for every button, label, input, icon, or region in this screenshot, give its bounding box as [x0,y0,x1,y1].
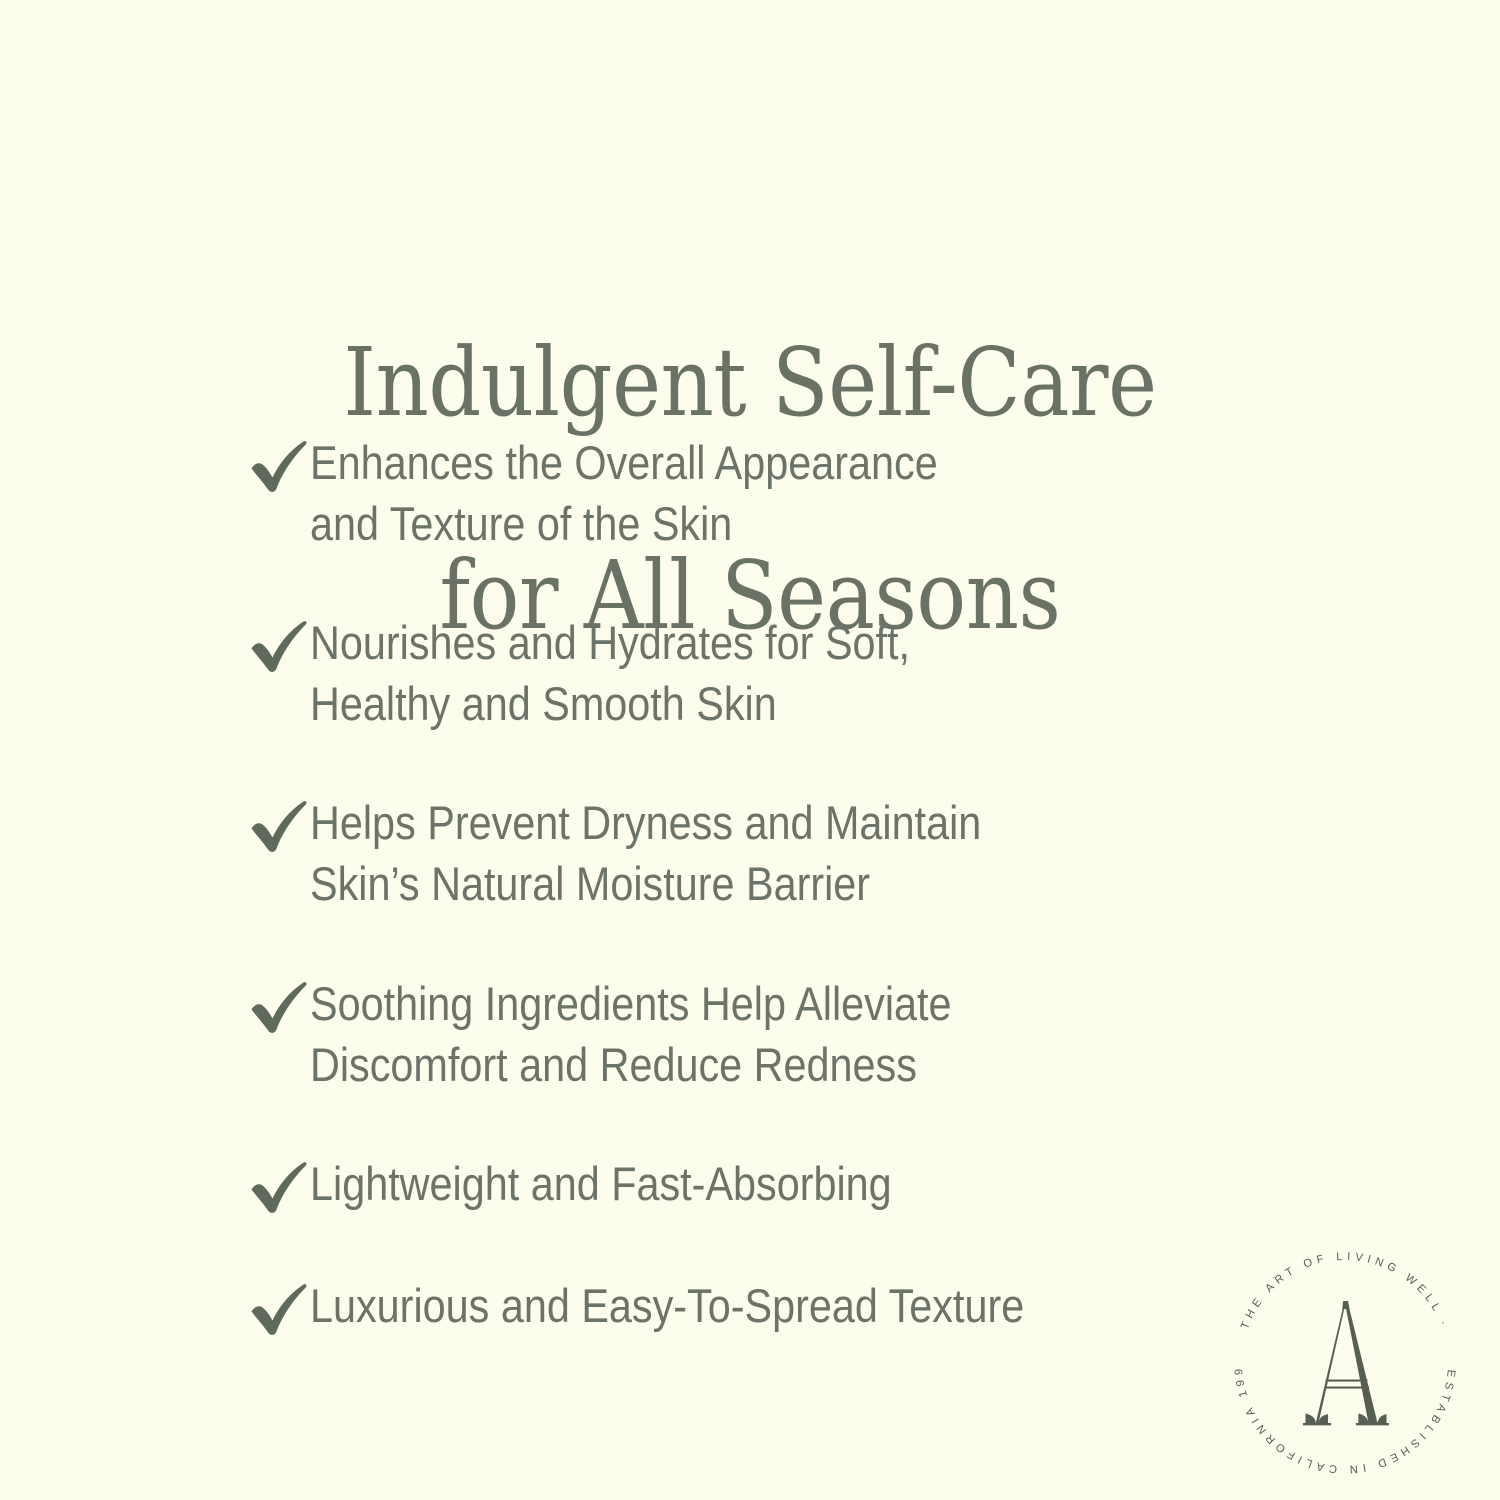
brand-seal-logo: THE ART OF LIVING WELL · · ESTABLISHED I… [1225,1243,1465,1483]
monogram-letter-a [1303,1301,1389,1425]
list-item: Luxurious and Easy-To-Spread Texture [248,1275,1228,1339]
benefit-text: Soothing Ingredients Help Alleviate Disc… [310,973,1118,1095]
benefits-list: Enhances the Overall Appearance and Text… [248,432,1228,1339]
checkmark-icon [248,1281,310,1339]
benefit-text: Enhances the Overall Appearance and Text… [310,432,1118,554]
checkmark-icon [248,1159,310,1217]
seal-arc-text-top: THE ART OF LIVING WELL · [1239,1251,1451,1331]
brand-seal-svg: THE ART OF LIVING WELL · · ESTABLISHED I… [1225,1243,1465,1483]
list-item: Nourishes and Hydrates for Soft, Healthy… [248,612,1228,734]
benefit-text: Luxurious and Easy-To-Spread Texture [310,1275,1118,1336]
checkmark-icon [248,618,310,676]
seal-arc-text-bottom: · ESTABLISHED IN CALIFORNIA 1998 [1225,1243,1457,1475]
list-item: Helps Prevent Dryness and Maintain Skin’… [248,792,1228,914]
checkmark-icon [248,798,310,856]
benefit-text: Helps Prevent Dryness and Maintain Skin’… [310,792,1118,914]
list-item: Soothing Ingredients Help Alleviate Disc… [248,973,1228,1095]
benefit-text: Nourishes and Hydrates for Soft, Healthy… [310,612,1118,734]
poster-canvas: Indulgent Self-Care for All Seasons Enha… [0,0,1500,1500]
list-item: Enhances the Overall Appearance and Text… [248,432,1228,554]
checkmark-icon [248,438,310,496]
list-item: Lightweight and Fast-Absorbing [248,1153,1228,1217]
checkmark-icon [248,979,310,1037]
benefit-text: Lightweight and Fast-Absorbing [310,1153,1118,1214]
page-title-line-1: Indulgent Self-Care [98,330,1403,436]
